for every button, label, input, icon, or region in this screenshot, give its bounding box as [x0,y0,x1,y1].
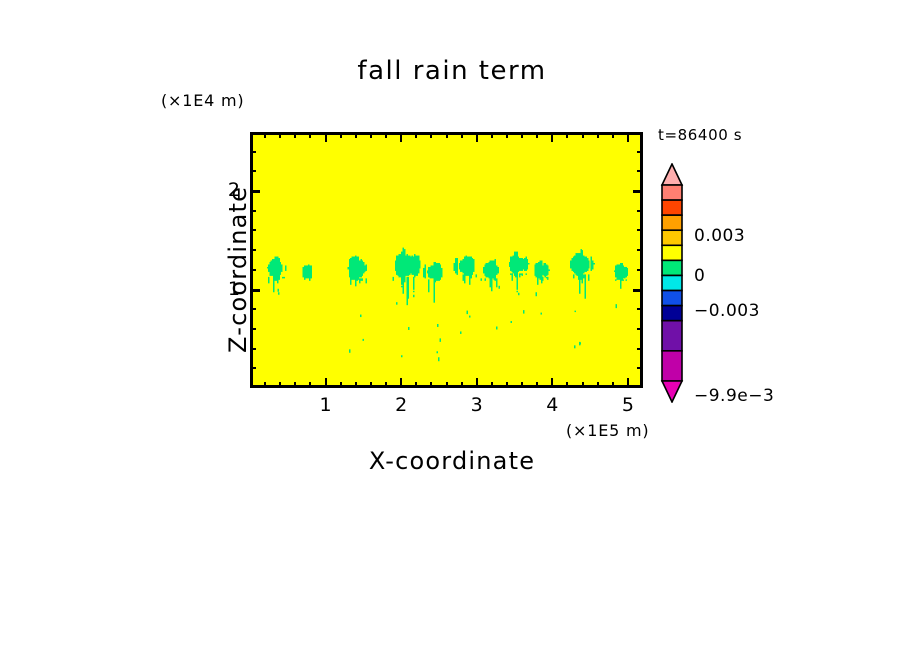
colorbar-tick-label: 0 [694,266,705,286]
colorbar-extend-top [662,164,682,185]
heatmap-canvas [253,135,640,385]
x-axis-unit-label: (×1E5 m) [566,421,649,440]
y-axis-title: Z-coordinate [224,186,252,353]
x-tick-label: 2 [381,394,421,416]
colorbar-band [662,245,682,260]
colorbar-band [662,351,682,381]
plot-area [250,132,643,388]
colorbar-band [662,185,682,200]
y-axis-unit-label: (×1E4 m) [161,91,244,110]
colorbar-band [662,306,682,321]
page-title: fall rain term [0,56,904,86]
colorbar-band [662,260,682,275]
colorbar-band [662,200,682,215]
colorbar-tick-label: −0.003 [694,301,760,321]
colorbar-extend-bottom [662,381,682,402]
colorbar-band [662,215,682,230]
colorbar-tick-label: 0.003 [694,226,745,246]
colorbar-band [662,230,682,245]
x-tick-label: 3 [457,394,497,416]
colorbar [660,163,684,403]
colorbar-band [662,275,682,290]
x-axis-title: X-coordinate [0,447,904,475]
x-tick-label: 1 [306,394,346,416]
x-tick-label: 5 [608,394,648,416]
colorbar-tick-label: −9.9e−3 [694,386,774,406]
colorbar-band [662,291,682,306]
time-stamp-label: t=86400 s [658,126,742,144]
colorbar-graphic [660,163,684,403]
figure-canvas: fall rain term (×1E4 m) t=86400 s 123451… [0,0,904,654]
x-tick-label: 4 [532,394,572,416]
colorbar-band [662,321,682,351]
